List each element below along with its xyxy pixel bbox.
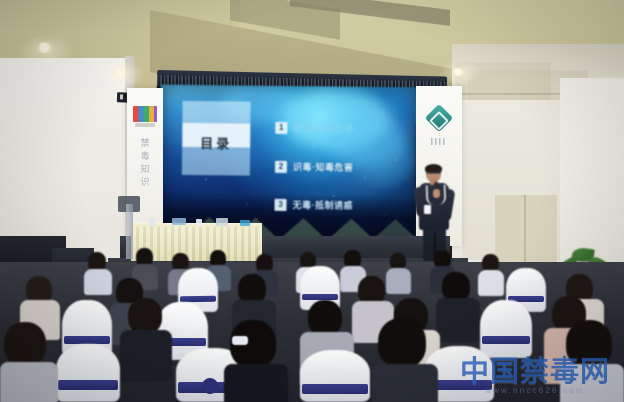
audience-head [378, 318, 426, 368]
ceiling-spotlight-2 [114, 68, 127, 77]
chair-sash [482, 336, 530, 344]
audience-head [566, 320, 612, 368]
right-banner-subtitle-bar [431, 138, 447, 145]
audience-head [4, 322, 46, 366]
chair-sash [58, 380, 118, 390]
table-item-accent [240, 220, 250, 226]
toc-number-3: 3 [274, 198, 286, 210]
audience-chair [480, 300, 532, 358]
toc-number-2: 2 [275, 160, 287, 172]
toc-item-2: 2 识毒·知毒危害 [275, 160, 354, 174]
audience-head [128, 298, 162, 334]
audience-torso [386, 268, 411, 294]
audience-torso [0, 362, 58, 402]
audience-torso [84, 269, 112, 295]
table-item-sign [172, 218, 186, 225]
chair-sash [64, 336, 110, 344]
presenter-figure [414, 165, 456, 261]
left-wall-panel [0, 58, 132, 263]
audience-head [308, 300, 342, 336]
ceiling-spotlight-1 [36, 42, 53, 53]
toc-item-3: 3 无毒·抵制诱惑 [274, 198, 353, 212]
chair-sash [302, 294, 338, 300]
chair-sash-knot [202, 378, 218, 394]
audience-torso [560, 364, 624, 402]
slide-title-panel: 目录 [182, 101, 251, 176]
presenter-hand [433, 189, 440, 198]
conference-photo: 目录 1 拒毒·珍爱生命 2 识毒·知毒危害 3 无毒·抵制诱惑 禁毒知识 [0, 0, 624, 402]
audience-hair-clip [232, 336, 248, 345]
audience-chair [56, 344, 120, 402]
left-banner-vertical-text: 禁毒知识 [139, 138, 152, 190]
slide-title: 目录 [182, 131, 250, 155]
right-wall-door-seam [524, 195, 526, 265]
left-banner-text-wrap: 禁毒知识 [139, 138, 152, 230]
audience-torso [436, 298, 480, 342]
speaker-stand-pole [126, 204, 133, 259]
banner-logo-subtitle-bar [135, 123, 155, 127]
chair-sash [302, 384, 368, 394]
table-item-cup [196, 219, 202, 226]
audience-torso [120, 330, 172, 382]
audience-chair [300, 350, 370, 402]
audience-torso [224, 364, 288, 402]
toc-item-1: 1 拒毒·珍爱生命 [275, 121, 354, 135]
toc-label-2: 识毒·知毒危害 [293, 160, 354, 174]
right-wall-door [495, 195, 557, 265]
ceiling-spotlight-3 [452, 68, 464, 76]
teal-diamond-logo-icon [425, 104, 453, 132]
table-item-box [216, 218, 228, 226]
audience-torso [478, 270, 504, 296]
presentation-screen: 目录 1 拒毒·珍爱生命 2 识毒·知毒危害 3 无毒·抵制诱惑 [159, 85, 417, 240]
toc-label-1: 拒毒·珍爱生命 [293, 121, 354, 135]
table-item-bottle-1 [150, 218, 155, 226]
toc-label-3: 无毒·抵制诱惑 [292, 198, 353, 212]
presenter-badge [424, 205, 431, 214]
presenter-glasses [426, 171, 441, 174]
toc-number-1: 1 [275, 121, 287, 133]
multicolor-bar-logo-icon [133, 106, 157, 122]
audience-torso [372, 364, 438, 402]
